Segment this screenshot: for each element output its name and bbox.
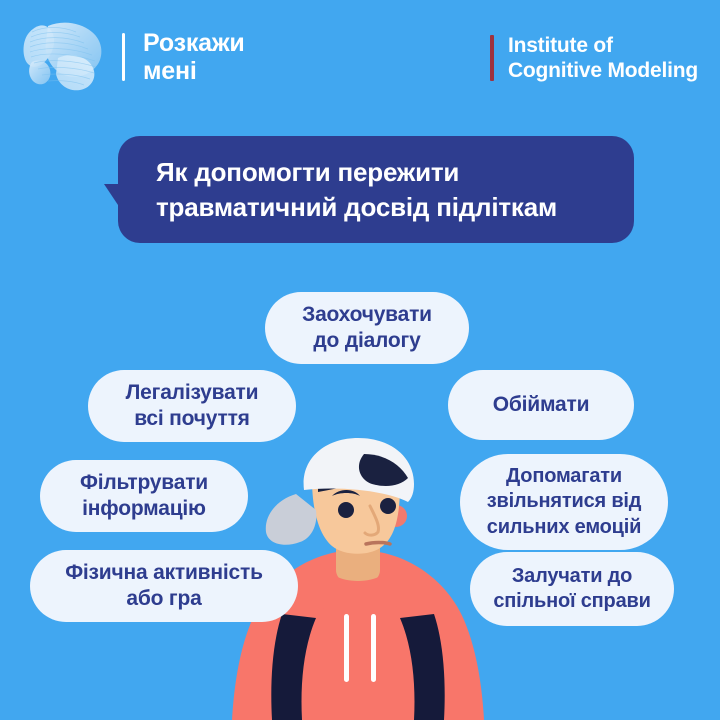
- pill-encourage-dialogue[interactable]: Заохочувати до діалогу: [265, 292, 469, 364]
- poster-canvas: Розкажи мені Institute of Cognitive Mode…: [0, 0, 720, 720]
- pill-involve-common-cause[interactable]: Залучати до спільної справи: [470, 552, 674, 626]
- pill-filter-information[interactable]: Фільтрувати інформацію: [40, 460, 248, 532]
- brand-name-label: Розкажи мені: [143, 29, 245, 86]
- pill-physical-activity-or-game[interactable]: Фізична активність або гра: [30, 550, 298, 622]
- page-title: Як допомогти пережити травматичний досві…: [156, 155, 557, 225]
- ribbon-wave-logo-icon: [18, 18, 114, 96]
- brand-institute: Institute of Cognitive Modeling: [490, 28, 698, 88]
- institute-name-label: Institute of Cognitive Modeling: [508, 33, 698, 83]
- pill-release-strong-emotions[interactable]: Допомагати звільнятися від сильних емоці…: [460, 454, 668, 550]
- header: Розкажи мені Institute of Cognitive Mode…: [0, 0, 720, 118]
- brand-divider: [122, 33, 125, 81]
- pill-legalize-feelings[interactable]: Легалізувати всі почуття: [88, 370, 296, 442]
- institute-divider: [490, 35, 494, 81]
- title-speech-bubble: Як допомогти пережити травматичний досві…: [118, 136, 634, 243]
- title-bubble-body: Як допомогти пережити травматичний досві…: [118, 136, 634, 243]
- brand-rozkazhy-meni: Розкажи мені: [18, 18, 245, 96]
- pill-hug[interactable]: Обіймати: [448, 370, 634, 440]
